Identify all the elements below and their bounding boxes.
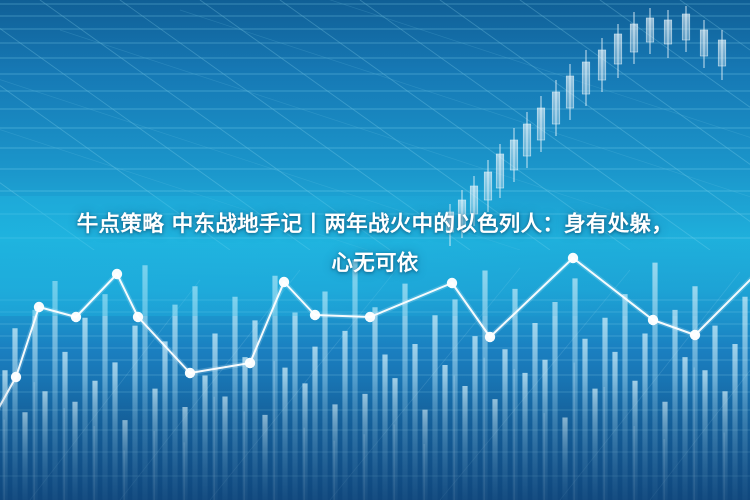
trend-line-marker <box>71 312 81 322</box>
candlestick-body <box>446 212 454 232</box>
trend-line-marker <box>690 330 700 340</box>
trend-line-marker <box>133 312 143 322</box>
candlestick-body <box>598 50 606 80</box>
candlestick-body <box>614 34 622 64</box>
bottom-shade <box>0 380 750 500</box>
candlestick-body <box>582 62 590 94</box>
trend-line-marker <box>365 312 375 322</box>
candlestick-body <box>470 186 478 214</box>
candlestick-body <box>510 140 518 170</box>
trend-line-marker <box>279 277 289 287</box>
trend-line-marker <box>568 253 578 263</box>
candlestick-body <box>718 40 726 66</box>
candlestick-body <box>537 108 545 140</box>
mid-haze <box>0 196 750 316</box>
trend-line-marker <box>185 368 195 378</box>
candlestick-body <box>646 18 654 42</box>
candlestick-body <box>496 154 504 188</box>
trend-line-marker <box>34 302 44 312</box>
banner-stage: 牛点策略 中东战地手记丨两年战火中的以色列人：身有处躲， 心无可依 <box>0 0 750 500</box>
trend-line-marker <box>485 332 495 342</box>
candlestick-body <box>523 124 531 156</box>
candlestick-body <box>484 172 492 200</box>
candlestick-body <box>566 76 574 108</box>
candlestick-body <box>630 24 638 52</box>
trend-line-marker <box>310 310 320 320</box>
background-artwork <box>0 0 750 500</box>
candlestick-body <box>682 14 690 40</box>
trend-line-marker <box>245 358 255 368</box>
candlestick-body <box>458 200 466 226</box>
trend-line-marker <box>112 269 122 279</box>
candlestick-body <box>664 20 672 44</box>
candlestick-body <box>552 92 560 124</box>
candlestick-body <box>700 30 708 56</box>
trend-line-marker <box>648 315 658 325</box>
trend-line-marker <box>447 278 457 288</box>
